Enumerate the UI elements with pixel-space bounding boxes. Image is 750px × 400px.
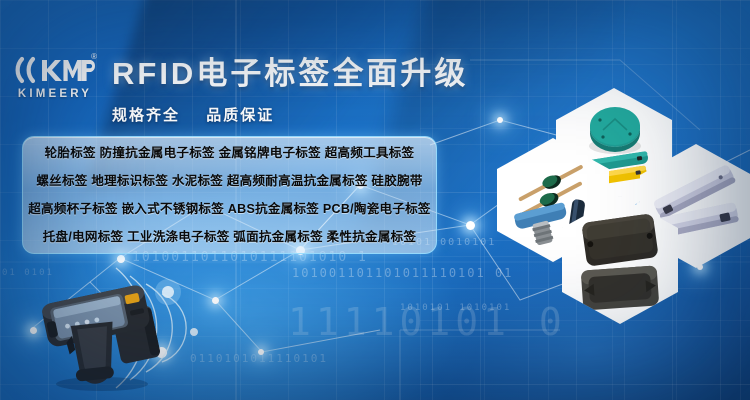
- vignette-overlay: [0, 0, 750, 400]
- rfid-promo-banner: 11110101 0 1010011011010111101010 1 1010…: [0, 0, 750, 400]
